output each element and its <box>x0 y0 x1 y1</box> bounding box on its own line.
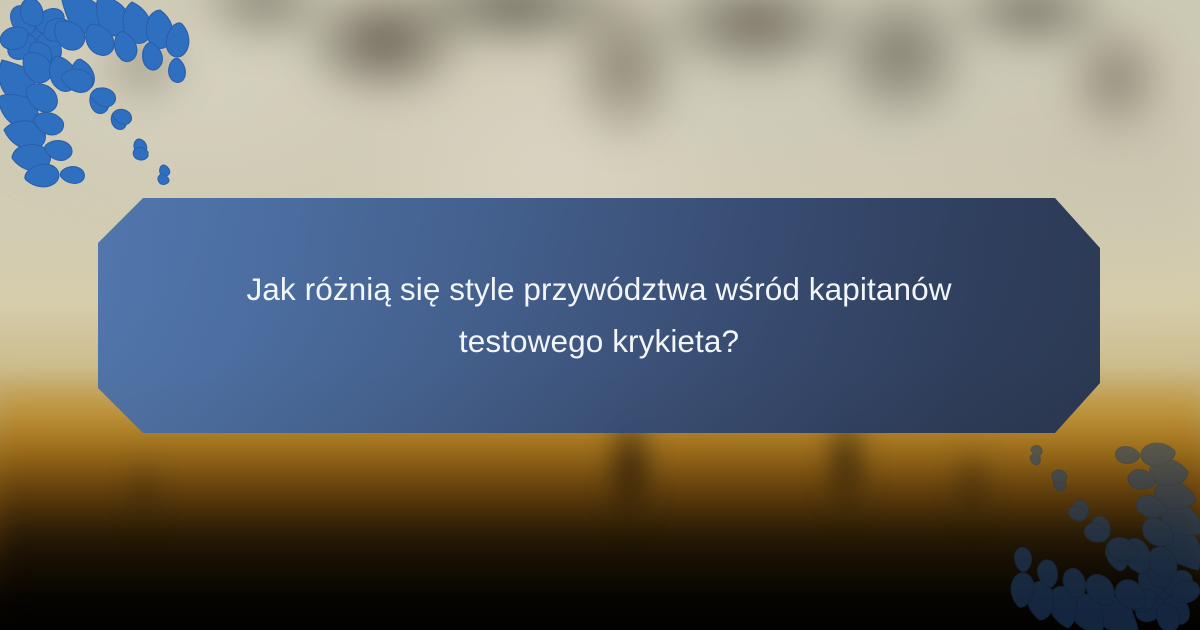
title-banner: Jak różnią się style przywództwa wśród k… <box>98 198 1100 433</box>
og-card: Jak różnią się style przywództwa wśród k… <box>0 0 1200 630</box>
page-title: Jak różnią się style przywództwa wśród k… <box>164 264 1034 366</box>
